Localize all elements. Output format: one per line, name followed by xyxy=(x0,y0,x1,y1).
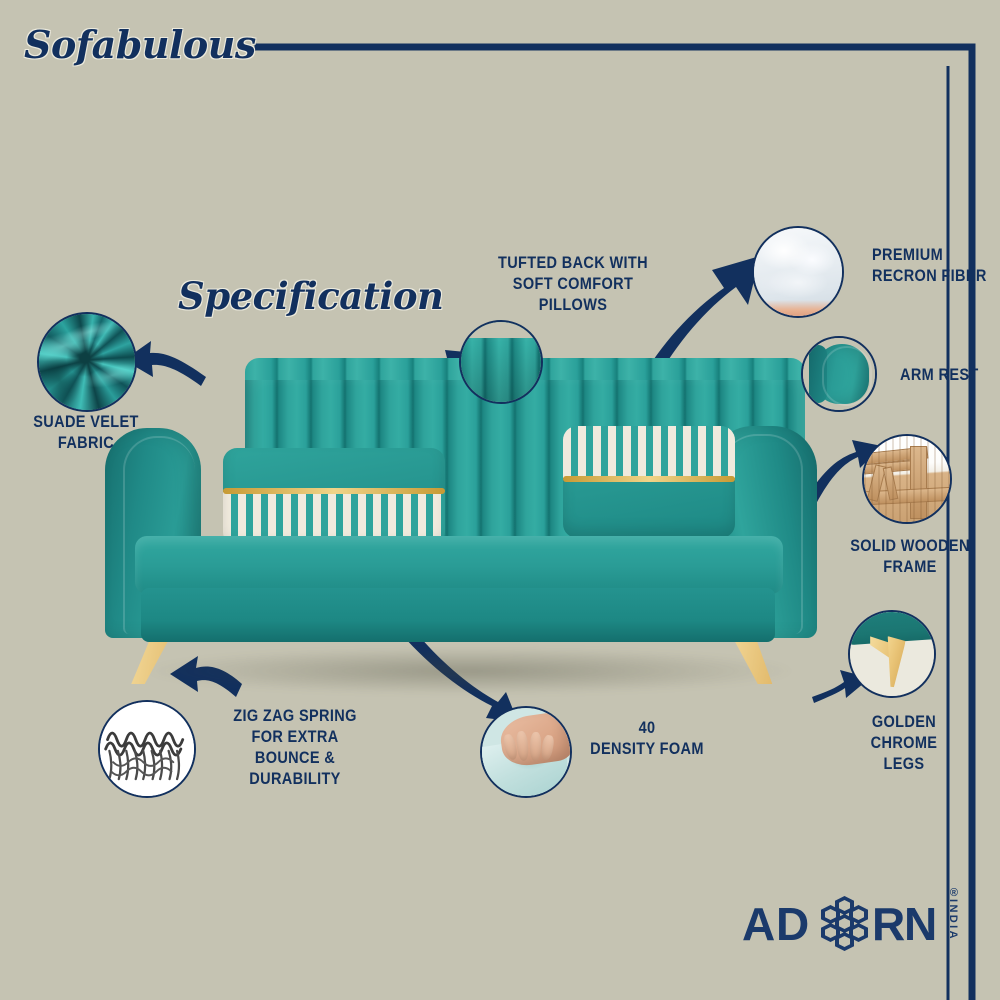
recron-fiber-label: PREMIUM RECRON FIBER xyxy=(872,245,988,287)
foam-icon xyxy=(480,706,572,798)
arm-rest-icon xyxy=(801,336,877,412)
adorn-india-logo: A D R N INDIA ® xyxy=(742,893,957,955)
zigzag-spring-label: ZIG ZAG SPRING FOR EXTRA BOUNCE & DURABI… xyxy=(211,706,378,790)
sofa-pillow-right-stripes xyxy=(563,426,735,478)
logo-honeycomb-icon xyxy=(818,897,870,949)
arm-rest-label: ARM REST xyxy=(900,365,997,386)
sofa-seat-cushion xyxy=(135,536,783,594)
recron-fiber-icon xyxy=(752,226,844,318)
zigzag-spring-icon xyxy=(98,700,196,798)
suade-velet-fabric-icon xyxy=(37,312,137,412)
logo-india-text: INDIA xyxy=(947,899,959,941)
sofa-pillow-right-gold-trim xyxy=(563,476,735,482)
sofa-base xyxy=(141,588,775,642)
wooden-frame-icon xyxy=(862,434,952,524)
logo-letter-n: N xyxy=(904,897,935,951)
infographic-canvas: Sofabulous Specification .arw{fill:#1230… xyxy=(0,0,1000,1000)
logo-letter-r: R xyxy=(872,897,903,951)
golden-leg-label: GOLDEN CHROME LEGS xyxy=(837,712,971,775)
logo-letter-a: A xyxy=(742,897,773,951)
golden-leg-icon xyxy=(848,610,936,698)
suade-velet-fabric-label: SUADE VELET FABRIC xyxy=(19,412,153,454)
tufted-back-icon xyxy=(459,320,543,404)
logo-registered-mark: ® xyxy=(950,887,958,899)
sofa-pillow-left-gold-trim xyxy=(223,488,445,494)
tufted-back-label: TUFTED BACK WITH SOFT COMFORT PILLOWS xyxy=(494,253,652,316)
wooden-frame-label: SOLID WOODEN FRAME xyxy=(848,536,971,578)
foam-label: 40 DENSITY FOAM xyxy=(581,718,713,760)
logo-letter-d: D xyxy=(776,897,807,951)
